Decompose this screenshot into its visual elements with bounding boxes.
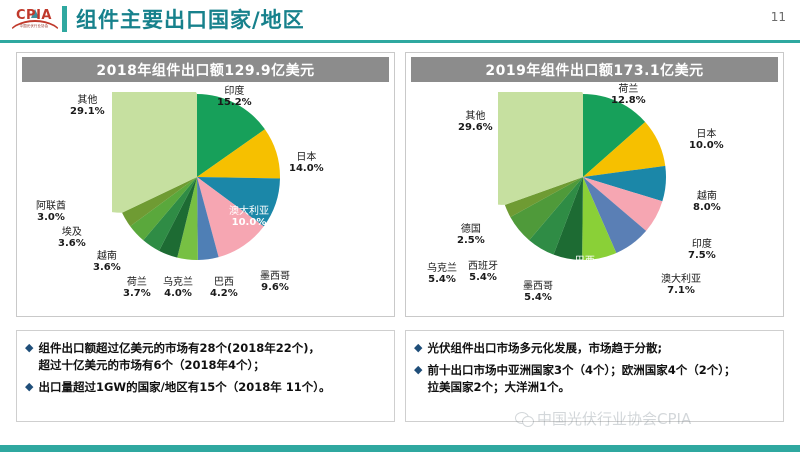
label-vietnam: 越南8.0% — [693, 192, 721, 214]
watermark: 中国光伏行业协会CPIA — [515, 408, 691, 429]
note-item: ◆ 光伏组件出口市场多元化发展，市场趋于分散; — [414, 340, 775, 357]
notes-box-left: ◆ 组件出口额超过亿美元的市场有28个(2018年22个)， 超过十亿美元的市场… — [16, 330, 395, 422]
label-australia: 澳大利亚10.0% — [229, 207, 269, 229]
note-text: 出口量超过1GW的国家/地区有15个（2018年 11个）。 — [38, 379, 330, 396]
wechat-icon — [515, 412, 533, 426]
chart-panel-2019: 2019年组件出口额173.1亿美元 — [405, 52, 784, 317]
chart-title-2019: 2019年组件出口额173.1亿美元 — [411, 57, 778, 82]
footer-divider — [0, 445, 800, 452]
header-divider — [0, 40, 800, 43]
watermark-text: 中国光伏行业协会CPIA — [537, 408, 691, 429]
note-text: 前十出口市场中亚洲国家3个（4个）；欧洲国家4个（2个）； 拉美国家2个；大洋洲… — [427, 362, 735, 396]
label-spain: 西班牙5.4% — [468, 262, 498, 284]
page-header: CPIA 中国光伏行业协会 组件主要出口国家/地区 11 — [0, 0, 800, 40]
label-japan: 日本10.0% — [689, 130, 724, 152]
chart-area-2018: 其他29.1% 印度15.2% 日本14.0% 澳大利亚10.0% 墨西哥9.6… — [17, 82, 394, 316]
label-egypt: 埃及3.6% — [58, 228, 86, 250]
pie-chart-2019 — [498, 92, 668, 262]
diamond-bullet-icon: ◆ — [25, 379, 33, 395]
title-accent-bar — [62, 6, 67, 32]
title-bar: 组件主要出口国家/地区 — [62, 2, 762, 36]
diamond-bullet-icon: ◆ — [414, 340, 422, 356]
label-india: 印度15.2% — [217, 87, 252, 109]
label-japan: 日本14.0% — [289, 153, 324, 175]
label-ukraine: 乌克兰4.0% — [163, 278, 193, 300]
label-others: 其他29.1% — [70, 96, 105, 118]
label-others: 其他29.6% — [458, 112, 493, 134]
page-number: 11 — [771, 10, 786, 24]
chart-title-2018: 2018年组件出口额129.9亿美元 — [22, 57, 389, 82]
diamond-bullet-icon: ◆ — [25, 340, 33, 356]
note-item: ◆ 组件出口额超过亿美元的市场有28个(2018年22个)， 超过十亿美元的市场… — [25, 340, 386, 374]
label-brazil: 巴西4.2% — [210, 278, 238, 300]
chart-panel-2018: 2018年组件出口额129.9亿美元 — [16, 52, 395, 317]
note-text: 光伏组件出口市场多元化发展，市场趋于分散; — [427, 340, 662, 357]
diamond-bullet-icon: ◆ — [414, 362, 422, 378]
label-mexico: 墨西哥9.6% — [260, 272, 290, 294]
note-item: ◆ 出口量超过1GW的国家/地区有15个（2018年 11个）。 — [25, 379, 386, 396]
label-ukraine: 乌克兰5.4% — [427, 264, 457, 286]
label-uae: 阿联酋3.0% — [36, 202, 66, 224]
label-vietnam: 越南3.6% — [93, 252, 121, 274]
label-netherlands: 荷兰3.7% — [123, 278, 151, 300]
cpia-logo: CPIA 中国光伏行业协会 — [6, 4, 62, 38]
note-text: 组件出口额超过亿美元的市场有28个(2018年22个)， 超过十亿美元的市场有6… — [38, 340, 320, 374]
pie-chart-2018 — [112, 92, 282, 262]
label-netherlands: 荷兰12.8% — [611, 85, 646, 107]
page-title: 组件主要出口国家/地区 — [76, 4, 305, 34]
label-brazil: 巴西6.3% — [571, 257, 599, 279]
note-item: ◆ 前十出口市场中亚洲国家3个（4个）；欧洲国家4个（2个）； 拉美国家2个；大… — [414, 362, 775, 396]
label-india: 印度7.5% — [688, 240, 716, 262]
label-mexico: 墨西哥5.4% — [523, 282, 553, 304]
chart-area-2019: 其他29.6% 荷兰12.8% 日本10.0% 越南8.0% 印度7.5% 澳大… — [406, 82, 783, 316]
pie-svg-2019 — [498, 92, 668, 262]
label-australia: 澳大利亚7.1% — [661, 275, 701, 297]
pie-svg-2018 — [112, 92, 282, 262]
logo-subtext: 中国光伏行业协会 — [6, 23, 62, 28]
label-germany: 德国2.5% — [457, 225, 485, 247]
